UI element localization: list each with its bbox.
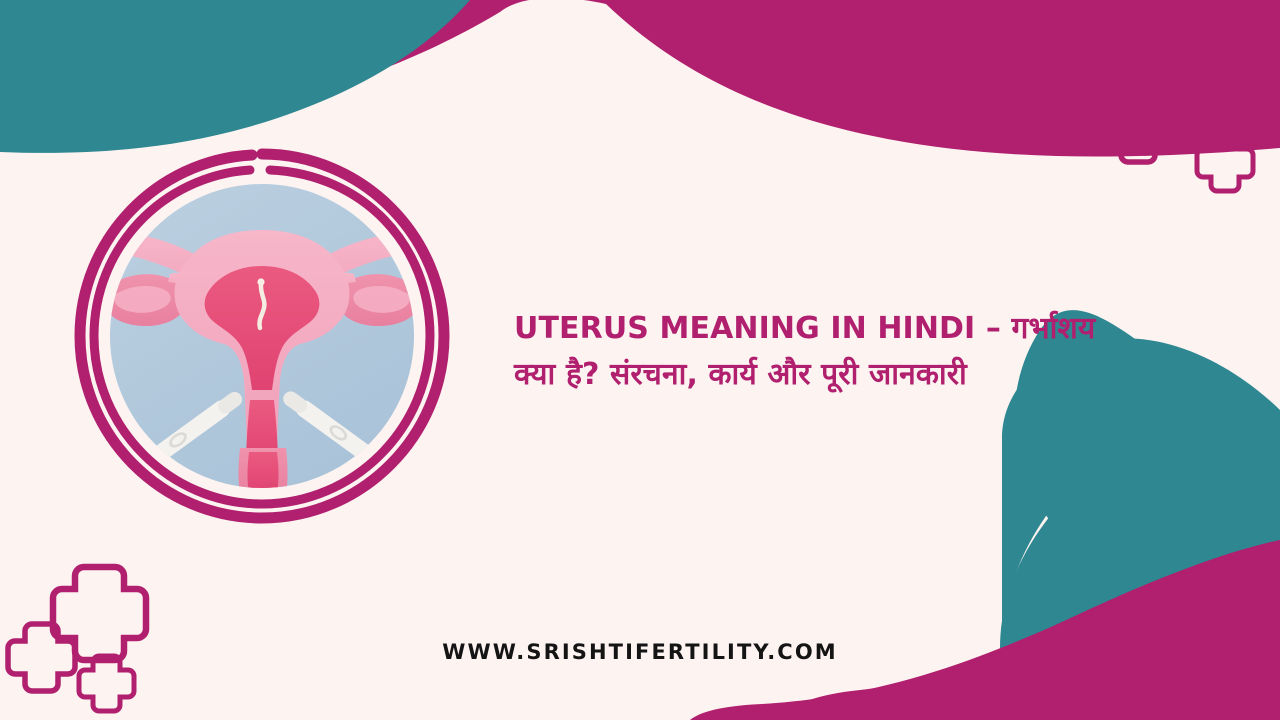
headline-line-2: क्या है? संरचना, कार्य और पूरी जानकारी bbox=[514, 352, 1244, 398]
promo-banner: UTERUS MEANING IN HINDI – गर्भाशय क्या ह… bbox=[0, 0, 1280, 720]
plus-icon bbox=[79, 656, 134, 711]
headline-line-1: UTERUS MEANING IN HINDI – गर्भाशय bbox=[514, 306, 1244, 352]
bottom-left-crosses bbox=[8, 567, 146, 711]
vaginal-canal-deep bbox=[248, 452, 279, 492]
page-title: UTERUS MEANING IN HINDI – गर्भाशय क्या ह… bbox=[514, 306, 1244, 397]
hero-image-circle bbox=[74, 148, 450, 524]
website-url[interactable]: WWW.SRISHTIFERTILITY.COM bbox=[0, 640, 1280, 664]
iud-top-knob bbox=[257, 278, 264, 285]
uterus-papercraft-photo bbox=[74, 148, 450, 524]
top-left-teal-blob bbox=[0, 0, 470, 153]
